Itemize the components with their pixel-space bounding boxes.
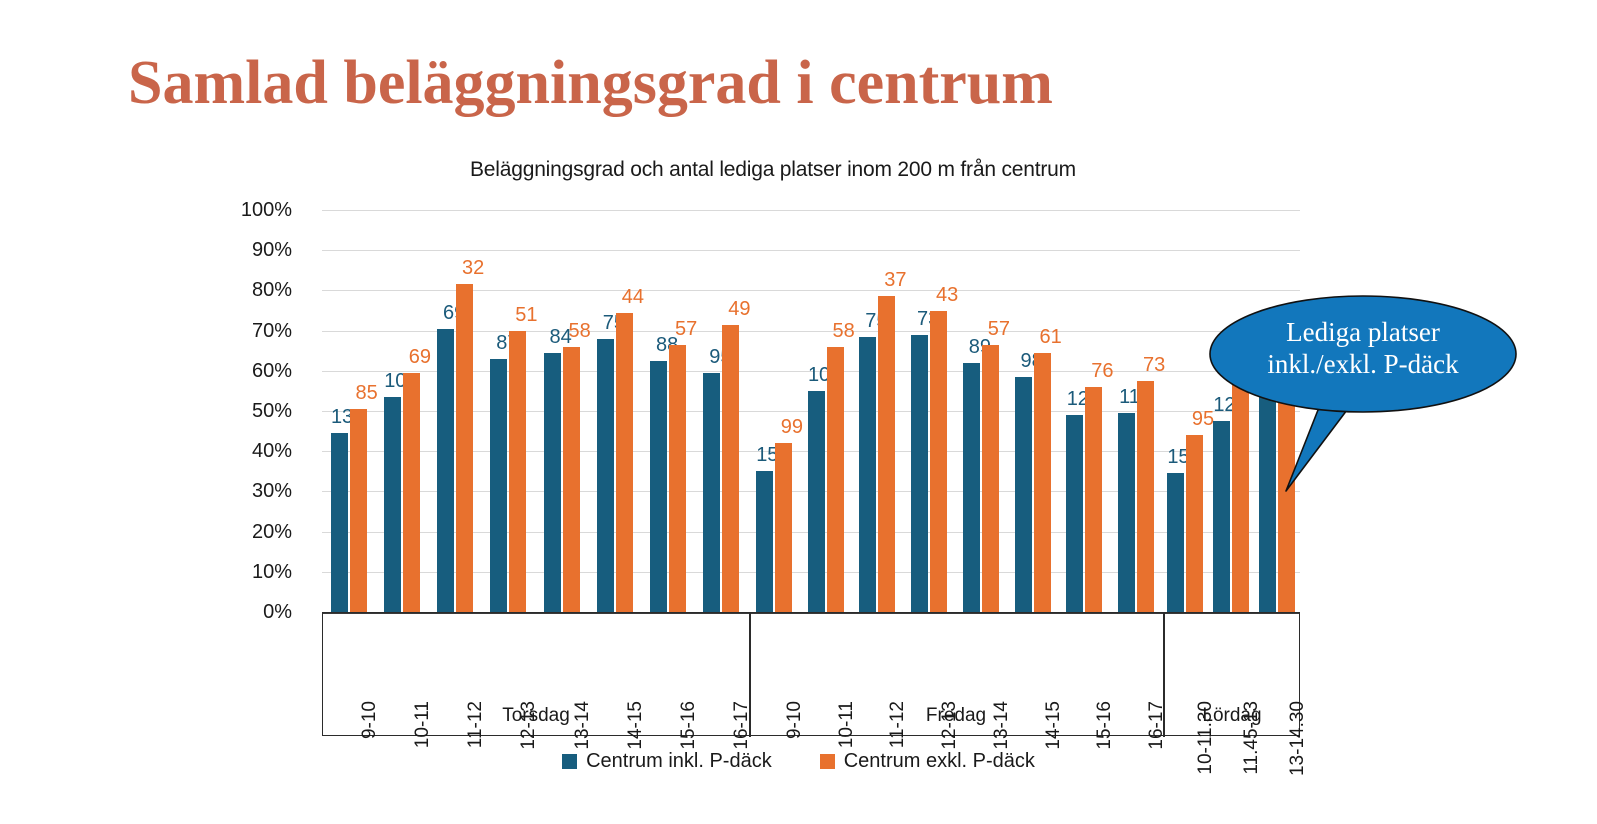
chart-legend: Centrum inkl. P-däckCentrum exkl. P-däck	[0, 750, 1597, 773]
bar	[827, 347, 844, 612]
bar	[722, 325, 739, 612]
bar	[775, 443, 792, 612]
y-axis-tick-label: 40%	[222, 440, 292, 463]
legend-swatch-icon	[820, 754, 835, 769]
y-axis-tick-label: 60%	[222, 360, 292, 383]
y-axis-tick-label: 80%	[222, 279, 292, 302]
bar	[384, 397, 401, 612]
bar	[456, 284, 473, 612]
group-label: Lördag	[1163, 705, 1301, 727]
bar	[982, 345, 999, 612]
category-axis: 9-1010-1111-1212-1313-1414-1515-1616-17T…	[322, 612, 1300, 736]
page-title: Samlad beläggningsgrad i centrum	[128, 47, 1053, 119]
y-axis-tick-label: 0%	[222, 601, 292, 624]
bar	[1015, 377, 1032, 612]
y-axis-tick-label: 30%	[222, 480, 292, 503]
chart-container: Beläggningsgrad och antal lediga platser…	[0, 140, 1597, 824]
bar	[350, 409, 367, 612]
bar	[1232, 383, 1249, 612]
gridline	[322, 210, 1300, 211]
bar	[650, 361, 667, 612]
bar	[669, 345, 686, 612]
bar	[1167, 473, 1184, 612]
legend-swatch-icon	[562, 754, 577, 769]
bar	[963, 363, 980, 612]
bar	[509, 331, 526, 612]
bar	[930, 311, 947, 613]
bar	[703, 373, 720, 612]
bar	[437, 329, 454, 612]
bar	[1066, 415, 1083, 612]
bar-value-label: 67	[1269, 342, 1321, 365]
bar	[1278, 369, 1295, 612]
group-label: Fredag	[749, 705, 1163, 727]
bar	[756, 471, 773, 612]
bar-value-label: 73	[1128, 354, 1180, 377]
bar-value-label: 32	[447, 257, 499, 280]
y-axis-tick-label: 50%	[222, 400, 292, 423]
legend-label: Centrum exkl. P-däck	[844, 750, 1035, 773]
bar	[1034, 353, 1051, 612]
bar	[911, 335, 928, 612]
bar	[1137, 381, 1154, 612]
bar-value-label: 51	[500, 304, 552, 327]
bar-value-label: 57	[660, 318, 712, 341]
bar	[1085, 387, 1102, 612]
group-label: Torsdag	[323, 705, 749, 727]
bar	[544, 353, 561, 612]
bar-value-label: 49	[713, 298, 765, 321]
legend-item[interactable]: Centrum exkl. P-däck	[820, 750, 1035, 773]
gridline	[322, 250, 1300, 251]
bar-value-label: 61	[1025, 326, 1077, 349]
bar-value-label: 44	[607, 286, 659, 309]
y-axis-tick-label: 100%	[222, 199, 292, 222]
plot-area: 1308510969693287518458754488579549153991…	[322, 210, 1300, 612]
bar-value-label: 37	[869, 269, 921, 292]
y-axis-tick-label: 10%	[222, 561, 292, 584]
bar	[1186, 435, 1203, 612]
y-axis-tick-label: 20%	[222, 521, 292, 544]
bar	[1213, 421, 1230, 612]
bar-value-label: 43	[921, 284, 973, 307]
bar	[563, 347, 580, 612]
bar	[403, 373, 420, 612]
bar	[1118, 413, 1135, 612]
bar-value-label: 57	[973, 318, 1025, 341]
legend-item[interactable]: Centrum inkl. P-däck	[562, 750, 772, 773]
bar	[1259, 393, 1276, 612]
bar	[878, 296, 895, 612]
y-axis-tick-label: 90%	[222, 239, 292, 262]
legend-label: Centrum inkl. P-däck	[586, 750, 772, 773]
bar-value-label: 76	[1076, 360, 1128, 383]
bar	[616, 313, 633, 612]
y-axis-tick-label: 70%	[222, 320, 292, 343]
bar	[808, 391, 825, 612]
bar	[597, 339, 614, 612]
bar	[331, 433, 348, 612]
chart-subtitle: Beläggningsgrad och antal lediga platser…	[470, 158, 1076, 182]
bar	[859, 337, 876, 612]
bar	[490, 359, 507, 612]
